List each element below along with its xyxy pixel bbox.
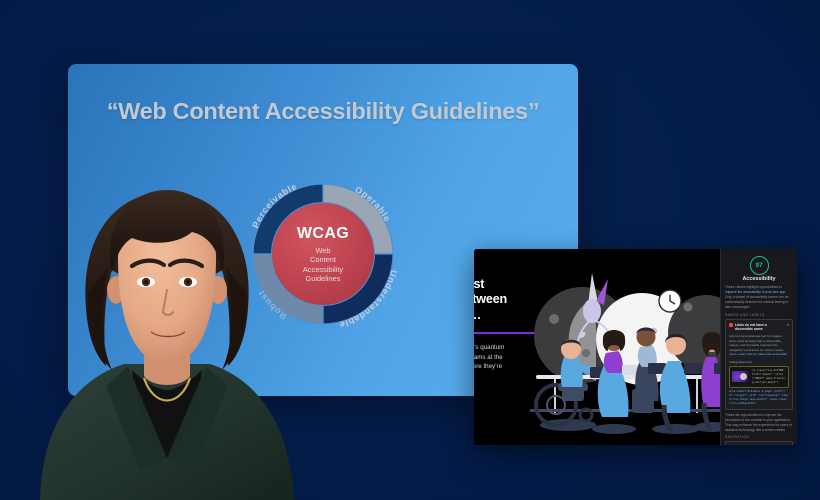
wcag-expansion-line: Web <box>303 246 343 255</box>
audit-slide-content: rtest between ts… line, it’s quantum our… <box>474 249 720 445</box>
navigation-section-title: NAVIGATION <box>725 435 793 439</box>
audit-desc-link[interactable]: Learn how to make links accessible <box>738 352 787 356</box>
chevron-down-icon[interactable]: ▾ <box>787 323 789 327</box>
failing-element-row[interactable]: <a class="css-4k3fWR" href="/about/" tit… <box>729 366 789 388</box>
audit-intro-link[interactable]: improve the accessibility of your web ap… <box>725 290 785 294</box>
wheelchair-user-torso <box>561 357 583 387</box>
fail-status-icon <box>729 323 733 327</box>
audit-intro-plain: These checks highlight opportunities to <box>725 285 782 289</box>
wcag-expansion-line: Content <box>303 255 343 264</box>
audit-card-description: Link text (and alternate text for images… <box>729 334 789 357</box>
contrast-note: These are opportunities to improve the p… <box>725 413 793 433</box>
audit-card-links-no-name[interactable]: Links do not have a discernible name ▾ L… <box>725 319 793 410</box>
page-title: “Web Content Accessibility Guidelines” <box>68 98 578 125</box>
audit-intro-note: These checks highlight opportunities to … <box>725 285 793 310</box>
element-thumbnail <box>732 371 749 382</box>
wcag-acronym: WCAG <box>297 225 349 243</box>
failing-elements-label: Failing Elements <box>729 360 789 364</box>
audit-card-title: Links do not have a discernible name <box>735 323 785 332</box>
illustration-svg <box>530 257 720 443</box>
element-markup-snippet: <a class="css-4k3fWR" href="/about/" tit… <box>752 369 786 385</box>
presenter-portrait <box>32 140 302 500</box>
presenter-svg <box>32 140 302 500</box>
wcag-expansion-line: Guidelines <box>303 274 343 283</box>
inclusive-workplace-illustration <box>530 257 720 443</box>
screenshot-canvas: “Web Content Accessibility Guidelines” <box>0 0 820 500</box>
accessibility-score-label: Accessibility <box>725 276 793 282</box>
accessibility-audit-panel[interactable]: 97 Accessibility These checks highlight … <box>720 249 797 445</box>
wcag-expansion: Web Content Accessibility Guidelines <box>303 246 343 284</box>
audit-card-header[interactable]: Links do not have a discernible name ▾ <box>729 323 789 332</box>
wcag-expansion-line: Accessibility <box>303 265 343 274</box>
audit-section-title: NAMES AND LABELS <box>725 313 793 317</box>
audit-slide: rtest between ts… line, it’s quantum our… <box>474 249 797 445</box>
standing-top <box>604 351 623 373</box>
accessibility-score-ring: 97 <box>750 256 769 275</box>
audit-card-heading-order[interactable]: Heading elements are not in a sequential… <box>725 441 793 445</box>
element-code-lines: aria-label="Schedule a page" href="/#/" … <box>729 390 789 406</box>
clock-icon <box>659 290 681 312</box>
